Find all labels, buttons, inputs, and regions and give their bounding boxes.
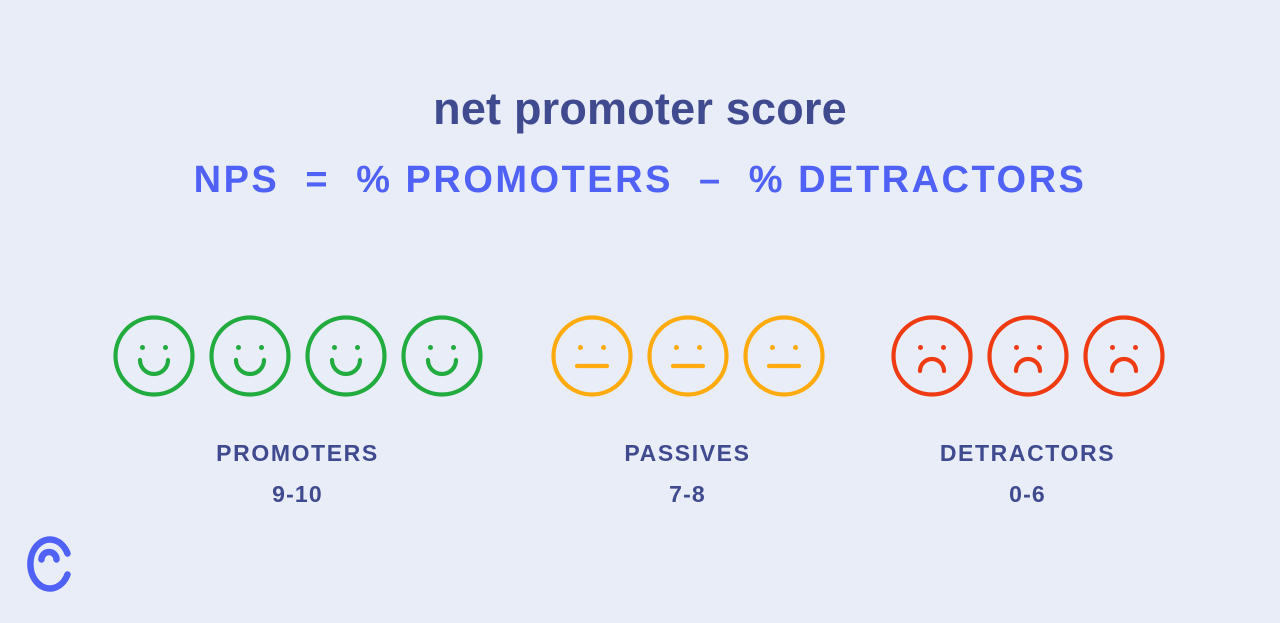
group-label-passives: PASSIVES bbox=[550, 440, 825, 466]
group-range-detractors: 0-6 bbox=[890, 481, 1165, 507]
frown-face-icon bbox=[890, 314, 974, 398]
group-labels-promoters: PROMOTERS 9-10 bbox=[110, 440, 485, 508]
nps-formula: NPS = % PROMOTERS – % DETRACTORS bbox=[0, 160, 1280, 202]
smile-face-icon bbox=[304, 314, 388, 398]
group-range-promoters: 9-10 bbox=[110, 481, 485, 507]
brand-logo-c-mark bbox=[22, 533, 76, 595]
faces-row-passives bbox=[550, 314, 825, 398]
group-range-passives: 7-8 bbox=[550, 481, 825, 507]
group-label-detractors: DETRACTORS bbox=[890, 440, 1165, 466]
frown-face-icon bbox=[986, 314, 1070, 398]
frown-face-icon bbox=[1082, 314, 1166, 398]
smile-face-icon bbox=[112, 314, 196, 398]
faces-row-promoters bbox=[110, 314, 485, 398]
group-labels-detractors: DETRACTORS 0-6 bbox=[890, 440, 1165, 508]
neutral-face-icon bbox=[646, 314, 730, 398]
smile-face-icon bbox=[400, 314, 484, 398]
group-labels-passives: PASSIVES 7-8 bbox=[550, 440, 825, 508]
page-title: net promoter score bbox=[0, 84, 1280, 134]
nps-diagram: net promoter score NPS = % PROMOTERS – %… bbox=[0, 0, 1280, 623]
group-promoters: PROMOTERS 9-10 bbox=[110, 314, 485, 508]
group-label-promoters: PROMOTERS bbox=[110, 440, 485, 466]
group-detractors: DETRACTORS 0-6 bbox=[890, 314, 1165, 508]
group-passives: PASSIVES 7-8 bbox=[550, 314, 825, 508]
neutral-face-icon bbox=[550, 314, 634, 398]
smile-face-icon bbox=[208, 314, 292, 398]
score-groups: PROMOTERS 9-10 PASSIVES 7-8 DETRACTORS 0… bbox=[0, 314, 1280, 504]
faces-row-detractors bbox=[890, 314, 1165, 398]
neutral-face-icon bbox=[742, 314, 826, 398]
